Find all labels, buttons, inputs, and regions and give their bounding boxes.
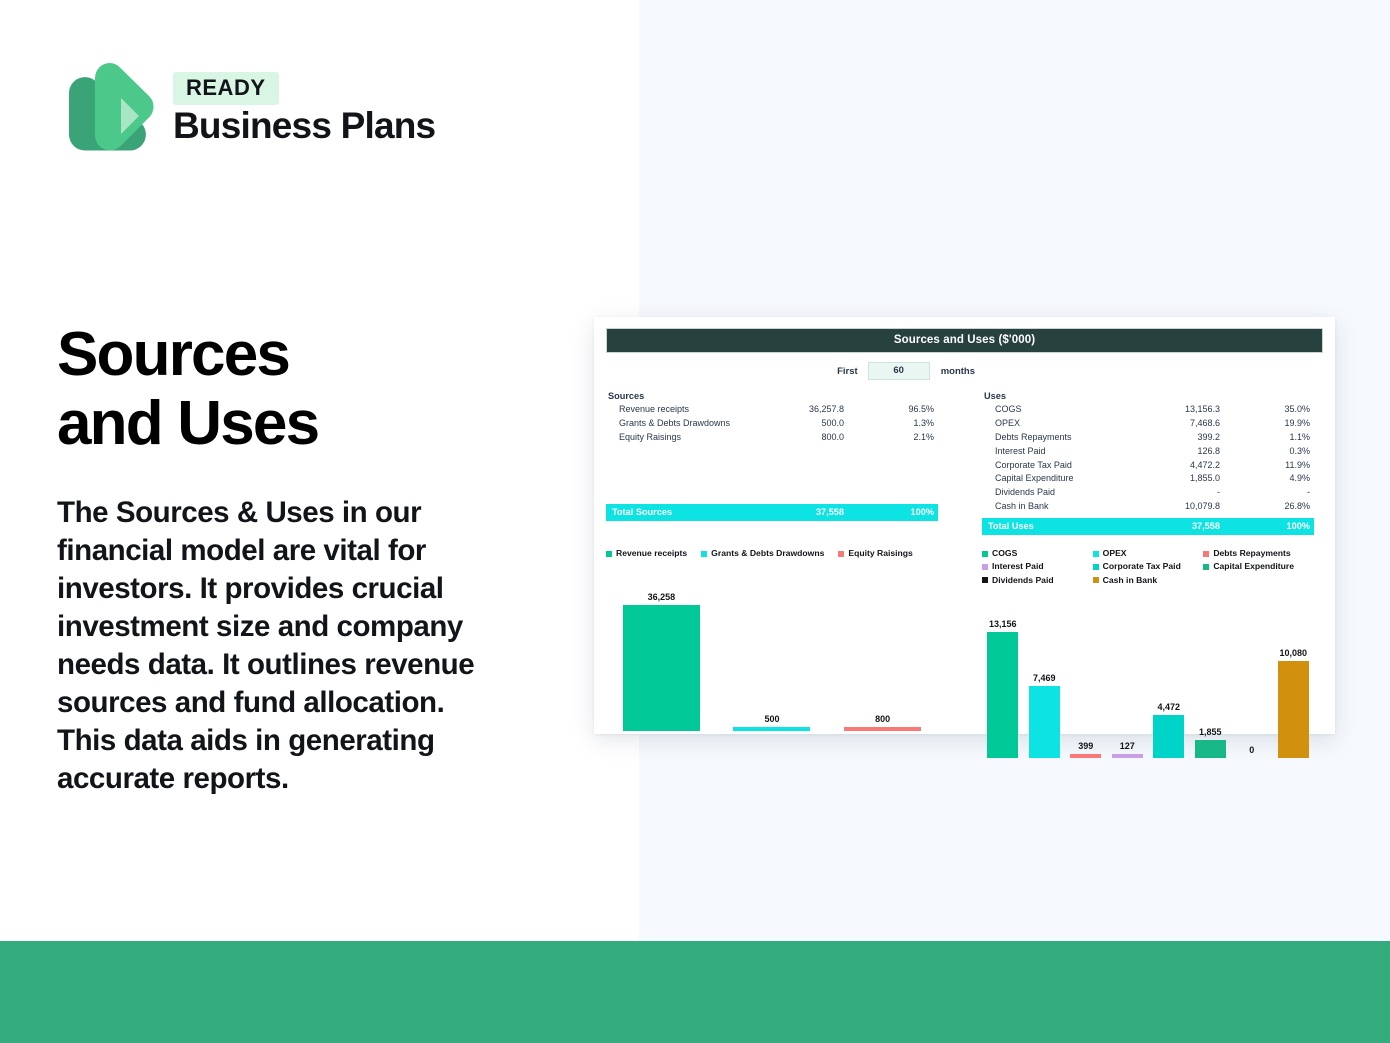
row-percent: - xyxy=(1248,486,1314,500)
legend-swatch-icon xyxy=(1203,551,1209,557)
bar xyxy=(987,632,1018,758)
row-percent: 26.8% xyxy=(1248,500,1314,514)
bar-slot: 13,156 xyxy=(982,595,1024,758)
legend-swatch-icon xyxy=(1093,564,1099,570)
row-label: Capital Expenditure xyxy=(982,472,1156,486)
total-label: Total Uses xyxy=(982,521,1156,531)
legend-label: Dividends Paid xyxy=(992,574,1054,587)
legend-item: Grants & Debts Drawdowns xyxy=(701,547,824,560)
table-row: Dividends Paid - - xyxy=(982,486,1314,500)
legend-swatch-icon xyxy=(982,551,988,557)
bar-slot: 7,469 xyxy=(1024,595,1066,758)
bar-value-label: 36,258 xyxy=(648,592,676,602)
legend-item: Revenue receipts xyxy=(606,547,687,560)
legend-swatch-icon xyxy=(1203,564,1209,570)
row-label: Equity Raisings xyxy=(606,431,780,445)
table-row: COGS 13,156.3 35.0% xyxy=(982,403,1314,417)
period-unit-label: months xyxy=(941,366,975,377)
bar-slot: 4,472 xyxy=(1148,595,1190,758)
period-prefix-label: First xyxy=(837,366,858,377)
row-label: Cash in Bank xyxy=(982,500,1156,514)
row-amount: 10,079.8 xyxy=(1156,500,1248,514)
uses-chart-legend: COGSOPEXDebts RepaymentsInterest PaidCor… xyxy=(982,547,1314,587)
legend-label: COGS xyxy=(992,547,1017,560)
total-uses-bar: Total Uses 37,558 100% xyxy=(982,518,1314,535)
row-label: Revenue receipts xyxy=(606,403,780,417)
legend-item: Equity Raisings xyxy=(838,547,912,560)
row-amount: 399.2 xyxy=(1156,431,1248,445)
period-row: First 60 months xyxy=(606,362,1323,380)
bar-slot: 36,258 xyxy=(606,568,717,731)
sources-rows: Revenue receipts 36,257.8 96.5% Grants &… xyxy=(606,403,938,500)
row-amount: - xyxy=(1156,486,1248,500)
row-amount: 126.8 xyxy=(1156,445,1248,459)
legend-swatch-icon xyxy=(838,551,844,557)
bar-value-label: 4,472 xyxy=(1157,702,1180,712)
legend-label: OPEX xyxy=(1103,547,1127,560)
table-row: OPEX 7,468.6 19.9% xyxy=(982,417,1314,431)
legend-item: Dividends Paid xyxy=(982,574,1093,587)
legend-item: Corporate Tax Paid xyxy=(1093,560,1204,573)
row-percent: 1.1% xyxy=(1248,431,1314,445)
uses-table: Uses COGS 13,156.3 35.0% OPEX 7,468.6 xyxy=(982,391,1314,535)
sources-and-uses-card: Sources and Uses ($'000) First 60 months… xyxy=(594,317,1335,734)
legend-label: Cash in Bank xyxy=(1103,574,1157,587)
bar-slot: 1,855 xyxy=(1190,595,1232,758)
bar-slot: 127 xyxy=(1107,595,1149,758)
uses-heading: Uses xyxy=(982,391,1314,403)
row-amount: 1,855.0 xyxy=(1156,472,1248,486)
row-percent: 96.5% xyxy=(872,403,938,417)
table-row: Equity Raisings 800.0 2.1% xyxy=(606,431,938,445)
bar xyxy=(733,727,810,731)
row-label: OPEX xyxy=(982,417,1156,431)
bar-value-label: 500 xyxy=(764,714,779,724)
legend-label: Interest Paid xyxy=(992,560,1044,573)
bar-value-label: 399 xyxy=(1078,741,1093,751)
legend-label: Revenue receipts xyxy=(616,547,687,560)
legend-swatch-icon xyxy=(606,551,612,557)
sources-heading: Sources xyxy=(606,391,938,403)
row-percent: 19.9% xyxy=(1248,417,1314,431)
legend-swatch-icon xyxy=(982,564,988,570)
row-amount: 800.0 xyxy=(780,431,872,445)
legend-label: Corporate Tax Paid xyxy=(1103,560,1181,573)
total-amount: 37,558 xyxy=(1156,521,1248,531)
row-percent: 1.3% xyxy=(872,417,938,431)
legend-swatch-icon xyxy=(1093,577,1099,583)
table-row: Corporate Tax Paid 4,472.2 11.9% xyxy=(982,459,1314,473)
sources-chart-plot: 36,258500800 xyxy=(606,568,938,731)
uses-chart-plot: 13,1567,4693991274,4721,855010,080 xyxy=(982,595,1314,758)
bar-value-label: 127 xyxy=(1120,741,1135,751)
period-months-input[interactable]: 60 xyxy=(868,362,930,380)
bar-slot: 10,080 xyxy=(1273,595,1315,758)
charts-row: Revenue receiptsGrants & Debts Drawdowns… xyxy=(606,547,1323,758)
legend-label: Debts Repayments xyxy=(1213,547,1290,560)
table-row: Interest Paid 126.8 0.3% xyxy=(982,445,1314,459)
bar xyxy=(1070,754,1101,758)
legend-label: Grants & Debts Drawdowns xyxy=(711,547,824,560)
table-row: Grants & Debts Drawdowns 500.0 1.3% xyxy=(606,417,938,431)
row-percent: 2.1% xyxy=(872,431,938,445)
bar-value-label: 7,469 xyxy=(1033,673,1056,683)
legend-item: Interest Paid xyxy=(982,560,1093,573)
sheet-title-bar: Sources and Uses ($'000) xyxy=(606,328,1323,353)
bar-slot: 500 xyxy=(717,568,828,731)
bar-slot: 800 xyxy=(827,568,938,731)
uses-rows: COGS 13,156.3 35.0% OPEX 7,468.6 19.9% D… xyxy=(982,403,1314,514)
bar-value-label: 1,855 xyxy=(1199,727,1222,737)
row-percent: 0.3% xyxy=(1248,445,1314,459)
total-label: Total Sources xyxy=(606,507,780,517)
row-label: Grants & Debts Drawdowns xyxy=(606,417,780,431)
legend-label: Capital Expenditure xyxy=(1213,560,1294,573)
legend-swatch-icon xyxy=(1093,551,1099,557)
legend-item: Capital Expenditure xyxy=(1203,560,1314,573)
row-amount: 500.0 xyxy=(780,417,872,431)
uses-bar-chart: COGSOPEXDebts RepaymentsInterest PaidCor… xyxy=(982,547,1314,758)
row-label: Dividends Paid xyxy=(982,486,1156,500)
page-title: Sources and Uses xyxy=(57,320,577,459)
legend-item: Debts Repayments xyxy=(1203,547,1314,560)
bar-slot: 0 xyxy=(1231,595,1273,758)
legend-swatch-icon xyxy=(982,577,988,583)
row-percent: 35.0% xyxy=(1248,403,1314,417)
sources-bar-chart: Revenue receiptsGrants & Debts Drawdowns… xyxy=(606,547,938,758)
bar xyxy=(844,727,921,731)
row-percent: 11.9% xyxy=(1248,459,1314,473)
row-percent: 4.9% xyxy=(1248,472,1314,486)
total-sources-bar: Total Sources 37,558 100% xyxy=(606,504,938,521)
table-row: Debts Repayments 399.2 1.1% xyxy=(982,431,1314,445)
bar-value-label: 0 xyxy=(1249,745,1254,755)
bar xyxy=(1153,715,1184,758)
brand-logo: READY Business Plans xyxy=(57,57,435,157)
row-amount: 13,156.3 xyxy=(1156,403,1248,417)
legend-swatch-icon xyxy=(701,551,707,557)
bar xyxy=(1278,661,1309,758)
legend-item: COGS xyxy=(982,547,1093,560)
body-paragraph: The Sources & Uses in our financial mode… xyxy=(57,494,507,798)
table-row: Capital Expenditure 1,855.0 4.9% xyxy=(982,472,1314,486)
brand-name: Business Plans xyxy=(173,107,435,146)
row-amount: 36,257.8 xyxy=(780,403,872,417)
row-label: COGS xyxy=(982,403,1156,417)
sources-table: Sources Revenue receipts 36,257.8 96.5% … xyxy=(606,391,938,535)
headline-line-2: and Uses xyxy=(57,389,318,458)
slide-root: READY Business Plans Sources and Uses Th… xyxy=(0,0,1390,1043)
bar xyxy=(1112,754,1143,758)
total-percent: 100% xyxy=(872,507,938,517)
table-row: Revenue receipts 36,257.8 96.5% xyxy=(606,403,938,417)
play-triangle-logo-icon xyxy=(57,57,157,157)
legend-item: OPEX xyxy=(1093,547,1204,560)
sources-chart-legend: Revenue receiptsGrants & Debts Drawdowns… xyxy=(606,547,938,560)
row-label: Debts Repayments xyxy=(982,431,1156,445)
bar xyxy=(1195,740,1226,758)
total-percent: 100% xyxy=(1248,521,1314,531)
total-amount: 37,558 xyxy=(780,507,872,517)
row-label: Interest Paid xyxy=(982,445,1156,459)
bar-slot: 399 xyxy=(1065,595,1107,758)
bar-value-label: 800 xyxy=(875,714,890,724)
bar-value-label: 13,156 xyxy=(989,619,1017,629)
bar xyxy=(1029,686,1060,758)
row-amount: 7,468.6 xyxy=(1156,417,1248,431)
legend-label: Equity Raisings xyxy=(848,547,912,560)
bar xyxy=(623,605,700,731)
row-amount: 4,472.2 xyxy=(1156,459,1248,473)
row-label: Corporate Tax Paid xyxy=(982,459,1156,473)
table-row: Cash in Bank 10,079.8 26.8% xyxy=(982,500,1314,514)
headline-line-1: Sources xyxy=(57,320,289,389)
bar-value-label: 10,080 xyxy=(1279,648,1307,658)
legend-item: Cash in Bank xyxy=(1093,574,1204,587)
footer-green-bar xyxy=(0,941,1390,1043)
ready-badge: READY xyxy=(173,72,279,105)
tables-row: Sources Revenue receipts 36,257.8 96.5% … xyxy=(606,391,1323,535)
